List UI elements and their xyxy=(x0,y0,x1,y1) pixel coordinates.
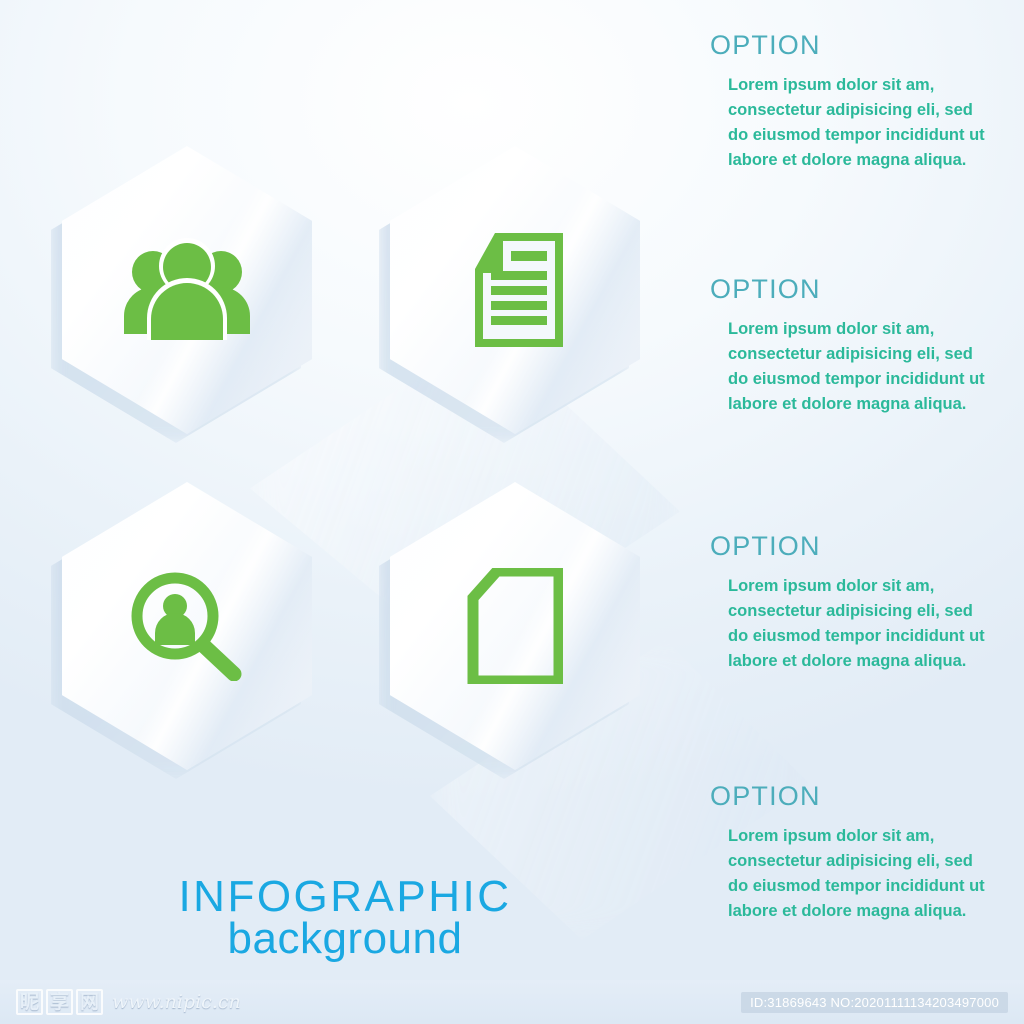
option-title: OPTION xyxy=(710,30,1006,61)
watermark-logo-icon: 昵 享 网 xyxy=(16,989,103,1015)
option-title: OPTION xyxy=(710,274,1006,305)
watermark-brand: 昵 享 网 www.nipic.cn xyxy=(16,989,241,1015)
page-title-line-1: INFOGRAPHIC xyxy=(0,876,690,918)
watermark-logo-char-2: 享 xyxy=(46,989,73,1015)
infographic-canvas: OPTION Lorem ipsum dolor sit am, consect… xyxy=(0,0,1024,1024)
user-search-icon xyxy=(62,482,312,770)
hex-card-blank-page[interactable] xyxy=(390,482,640,770)
option-body: Lorem ipsum dolor sit am, consectetur ad… xyxy=(728,574,990,674)
option-block-3[interactable]: OPTION Lorem ipsum dolor sit am, consect… xyxy=(706,531,1006,674)
blank-page-icon xyxy=(390,482,640,770)
option-block-4[interactable]: OPTION Lorem ipsum dolor sit am, consect… xyxy=(706,781,1006,924)
users-group-icon xyxy=(62,146,312,434)
option-block-1[interactable]: OPTION Lorem ipsum dolor sit am, consect… xyxy=(706,30,1006,173)
watermark-bar: 昵 享 网 www.nipic.cn ID:31869643 NO:202011… xyxy=(0,980,1024,1024)
watermark-logo-char-1: 昵 xyxy=(16,989,43,1015)
option-title: OPTION xyxy=(710,531,1006,562)
option-body: Lorem ipsum dolor sit am, consectetur ad… xyxy=(728,317,990,417)
watermark-id-text: ID:31869643 NO:20201111134203497000 xyxy=(741,992,1008,1013)
document-lines-icon xyxy=(390,146,640,434)
option-body: Lorem ipsum dolor sit am, consectetur ad… xyxy=(728,73,990,173)
hex-card-users[interactable] xyxy=(62,146,312,434)
option-body: Lorem ipsum dolor sit am, consectetur ad… xyxy=(728,824,990,924)
hex-card-user-search[interactable] xyxy=(62,482,312,770)
page-title-line-2: background xyxy=(0,918,690,960)
option-block-2[interactable]: OPTION Lorem ipsum dolor sit am, consect… xyxy=(706,274,1006,417)
option-title: OPTION xyxy=(710,781,1006,812)
options-column: OPTION Lorem ipsum dolor sit am, consect… xyxy=(706,0,1024,1024)
watermark-logo-char-3: 网 xyxy=(76,989,103,1015)
page-title: INFOGRAPHIC background xyxy=(0,876,690,960)
hex-card-document[interactable] xyxy=(390,146,640,434)
watermark-url: www.nipic.cn xyxy=(112,991,241,1013)
